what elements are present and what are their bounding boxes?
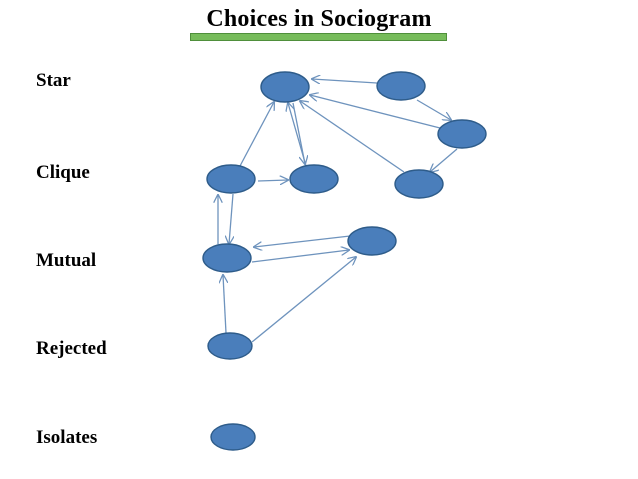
node-star[interactable] [261, 72, 309, 102]
edge-top-right-to-right-mid [417, 100, 451, 120]
node-right-mid[interactable] [438, 120, 486, 148]
node-layer [203, 72, 486, 450]
node-clique-left[interactable] [207, 165, 255, 193]
node-top-right[interactable] [377, 72, 425, 100]
edge-right-mid-to-star [310, 95, 440, 128]
sociogram-slide: Choices in Sociogram Star Clique Mutual … [0, 0, 638, 479]
edge-star-to-clique-right [293, 103, 305, 164]
node-clique-right[interactable] [290, 165, 338, 193]
edge-clique-left-to-mutual-left [229, 194, 233, 244]
edge-clique-left-to-clique-right [258, 180, 288, 181]
node-lower-right[interactable] [395, 170, 443, 198]
sociogram-graph [0, 0, 638, 479]
edge-mutual-right-to-mutual-left [254, 236, 350, 247]
edge-top-right-to-star [312, 79, 377, 83]
node-isolate[interactable] [211, 424, 255, 450]
edge-layer [218, 79, 457, 342]
node-mutual-right[interactable] [348, 227, 396, 255]
edge-clique-left-to-star [240, 102, 274, 166]
node-mutual-left[interactable] [203, 244, 251, 272]
edge-rejected-to-mutual-right [252, 257, 356, 342]
edge-lower-right-to-star [300, 101, 404, 172]
node-rejected[interactable] [208, 333, 252, 359]
edge-mutual-left-to-mutual-right [252, 250, 349, 262]
edge-right-mid-to-lower-right [430, 149, 457, 172]
edge-rejected-to-mutual-left [223, 275, 226, 333]
